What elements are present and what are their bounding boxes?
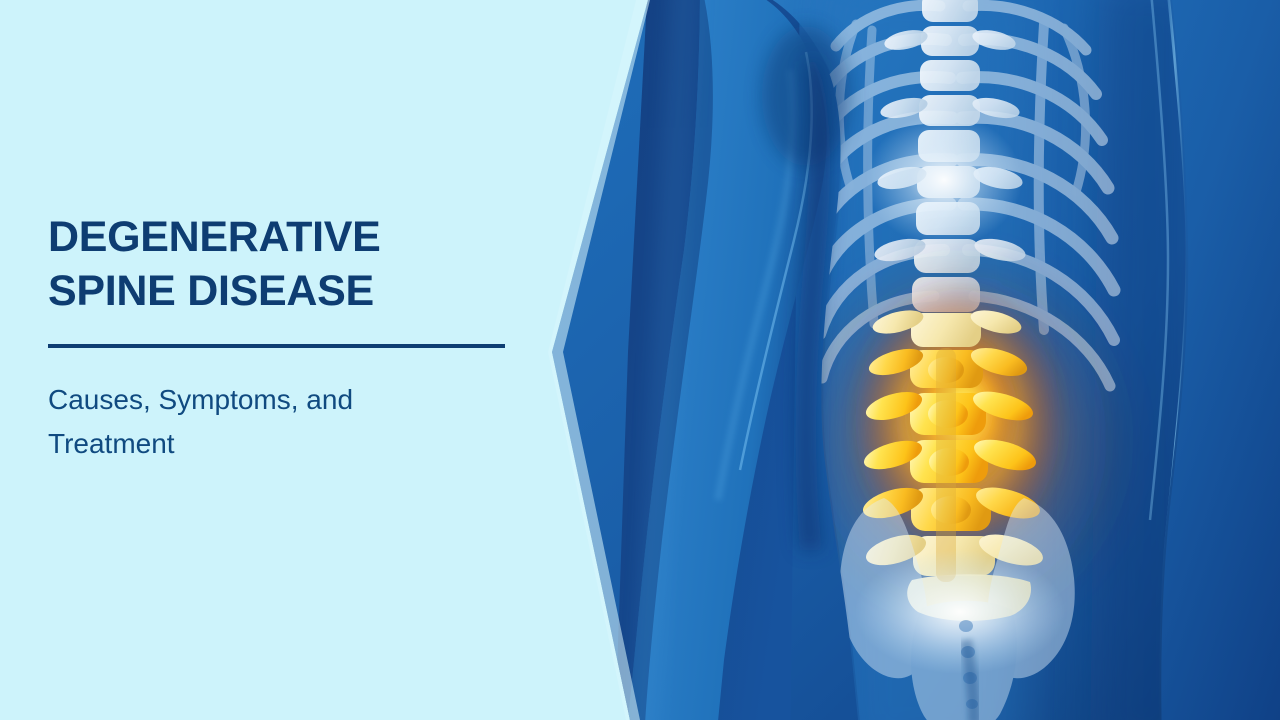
page-title-line-2: SPINE DISEASE (48, 267, 374, 315)
title-divider (48, 344, 505, 348)
text-panel: DEGENERATIVE SPINE DISEASE Causes, Sympt… (0, 0, 620, 720)
upper-spine-highlight (866, 114, 1022, 246)
photo-region (540, 0, 1280, 720)
page-title-line-1: DEGENERATIVE (48, 213, 381, 261)
page-subtitle: Causes, Symptoms, and Treatment (48, 378, 448, 466)
banner: DEGENERATIVE SPINE DISEASE Causes, Sympt… (0, 0, 1280, 720)
page-title: DEGENERATIVE SPINE DISEASE (48, 210, 518, 318)
sacrum-highlight (855, 550, 1065, 674)
title-block: DEGENERATIVE SPINE DISEASE Causes, Sympt… (48, 210, 518, 466)
